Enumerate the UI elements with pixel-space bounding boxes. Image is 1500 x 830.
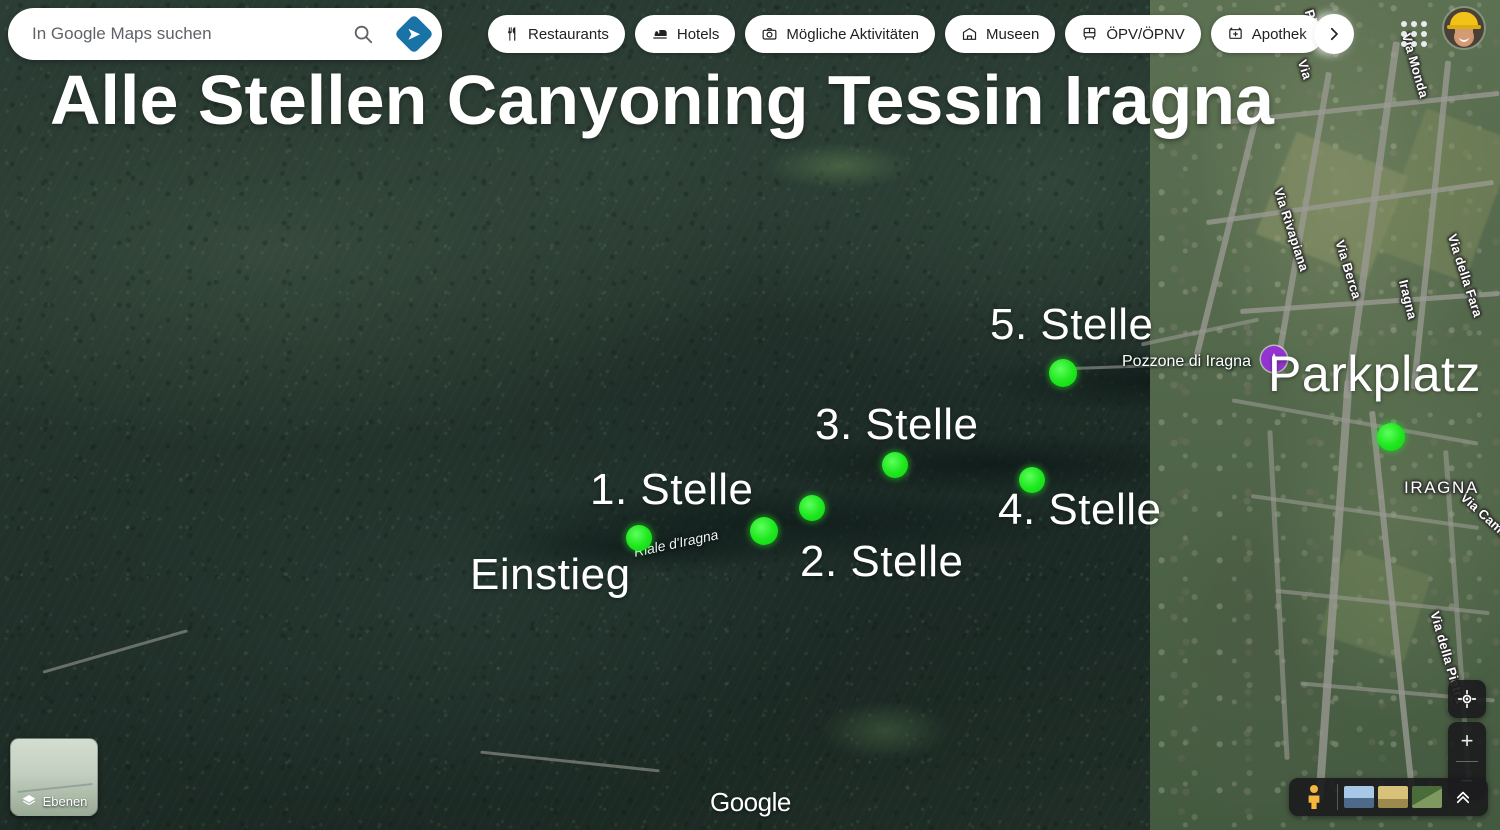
search-box[interactable]: ➤ (8, 8, 442, 60)
divider (1337, 784, 1338, 810)
annotation-parkplatz: Parkplatz (1268, 345, 1481, 403)
chip-label: Mögliche Aktivitäten (786, 26, 919, 43)
parkplatz-marker[interactable] (1377, 423, 1405, 451)
chip-label: ÖPV/ÖPNV (1106, 26, 1184, 43)
chip-moegliche-aktivitaeten[interactable]: Mögliche Aktivitäten (745, 15, 935, 53)
my-location-button[interactable] (1448, 680, 1486, 718)
einstieg-marker[interactable] (626, 525, 652, 551)
stelle-3-marker[interactable] (882, 452, 908, 478)
chip-museen[interactable]: Museen (945, 15, 1055, 53)
annotation-stelle-2: 2. Stelle (800, 537, 963, 587)
camera-icon (761, 26, 778, 42)
top-bar: ➤ Restaurants Hotels (0, 0, 1500, 66)
annotation-stelle-4: 4. Stelle (998, 485, 1161, 535)
chip-apotheken[interactable]: Apothek (1211, 15, 1323, 53)
stelle-2-marker[interactable] (799, 495, 825, 521)
google-apps-grid-icon[interactable] (1396, 16, 1432, 52)
layers-icon (21, 793, 37, 809)
search-icon[interactable] (340, 8, 386, 60)
google-maps-app: Via Rivapiana Via Berca Iragna Via della… (0, 0, 1500, 830)
layers-preview-contour (17, 783, 93, 793)
chip-label: Museen (986, 26, 1039, 43)
poi-label-pozzone-di-iragna[interactable]: Pozzone di Iragna (1122, 353, 1251, 371)
place-label-iragna: IRAGNA (1404, 478, 1479, 498)
annotation-stelle-1: 1. Stelle (590, 465, 753, 515)
chip-label: Restaurants (528, 26, 609, 43)
google-watermark: Google (710, 787, 791, 818)
annotation-stelle-5: 5. Stelle (990, 300, 1153, 350)
chip-restaurants[interactable]: Restaurants (488, 15, 625, 53)
expand-imagery-button[interactable] (1446, 778, 1480, 816)
chips-scroll-right-button[interactable] (1314, 14, 1354, 54)
page-title: Alle Stellen Canyoning Tessin Iragna (50, 60, 1274, 140)
restaurant-icon (504, 26, 520, 42)
imagery-thumbnail[interactable] (1378, 786, 1408, 808)
avatar-helmet-brim (1447, 25, 1481, 29)
directions-button[interactable]: ➤ (386, 8, 442, 60)
street-view-and-imagery-bar (1289, 778, 1488, 816)
layers-label: Ebenen (43, 794, 88, 809)
layers-button[interactable]: Ebenen (10, 738, 98, 816)
chip-hotels[interactable]: Hotels (635, 15, 736, 53)
hotel-icon (651, 26, 669, 42)
annotation-einstieg: Einstieg (470, 550, 631, 600)
pegman-street-view-icon[interactable] (1297, 778, 1331, 816)
pharmacy-icon (1227, 26, 1244, 42)
chevron-up-icon (1453, 788, 1473, 806)
museum-icon (961, 26, 978, 42)
pegman-glyph (1305, 784, 1323, 810)
category-chips: Restaurants Hotels Mögliche Aktivitäten (488, 15, 1323, 53)
chevron-right-icon (1325, 25, 1343, 43)
transit-icon (1081, 26, 1098, 42)
chip-label: Apothek (1252, 26, 1307, 43)
chip-oepv-oepnv[interactable]: ÖPV/ÖPNV (1065, 15, 1200, 53)
zoom-in-button[interactable]: + (1448, 722, 1486, 761)
stelle-5-marker[interactable] (1049, 359, 1077, 387)
imagery-thumbnail[interactable] (1344, 786, 1374, 808)
imagery-thumbnail[interactable] (1412, 786, 1442, 808)
layers-button-content: Ebenen (11, 793, 97, 809)
my-location-icon (1457, 689, 1477, 709)
avatar[interactable] (1444, 8, 1484, 48)
directions-icon: ➤ (394, 14, 434, 54)
search-input[interactable] (8, 24, 340, 44)
chip-label: Hotels (677, 26, 720, 43)
annotation-stelle-3: 3. Stelle (815, 400, 978, 450)
stelle-1-marker[interactable] (750, 517, 778, 545)
